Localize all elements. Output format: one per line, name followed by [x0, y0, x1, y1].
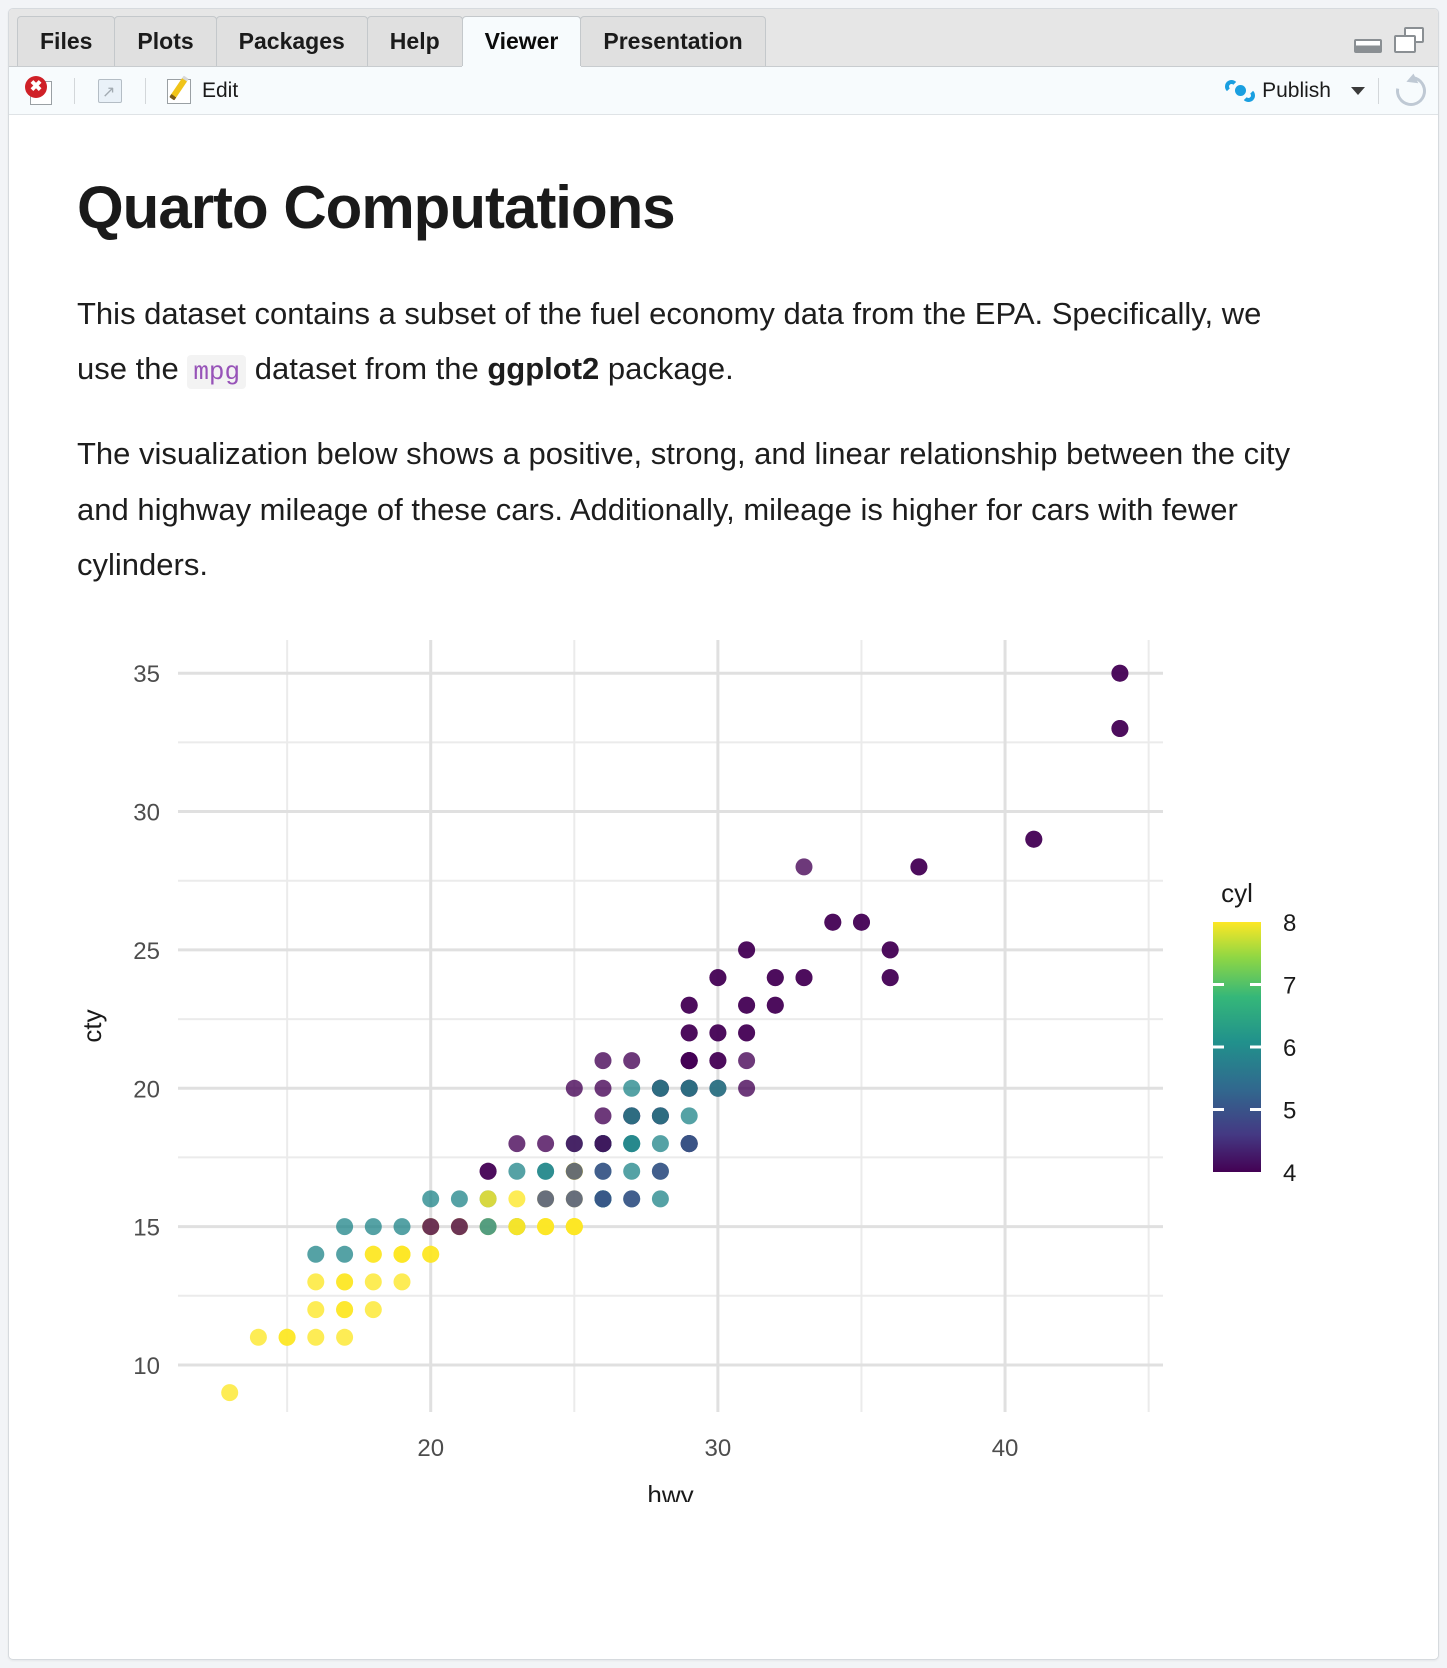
clear-viewer-icon: ✖ — [25, 76, 55, 106]
data-point — [853, 914, 870, 931]
data-point — [566, 1190, 583, 1207]
legend-tick-label: 7 — [1283, 972, 1296, 999]
data-point — [508, 1218, 525, 1235]
data-point — [767, 969, 784, 986]
data-point — [336, 1246, 353, 1263]
data-point — [336, 1301, 353, 1318]
data-point — [480, 1163, 497, 1180]
data-point — [738, 1052, 755, 1069]
data-point — [365, 1273, 382, 1290]
data-point — [709, 1080, 726, 1097]
data-point — [1025, 831, 1042, 848]
x-axis-title: hwy — [647, 1480, 693, 1502]
data-point — [307, 1273, 324, 1290]
data-point — [681, 1135, 698, 1152]
data-point — [623, 1135, 640, 1152]
data-point — [508, 1163, 525, 1180]
data-point — [537, 1218, 554, 1235]
y-axis-title: cty — [77, 1009, 107, 1042]
data-point — [365, 1301, 382, 1318]
data-point — [652, 1190, 669, 1207]
y-tick-label: 20 — [133, 1076, 160, 1103]
data-point — [566, 1218, 583, 1235]
data-point — [767, 997, 784, 1014]
paragraph-intro: This dataset contains a subset of the fu… — [77, 286, 1292, 396]
data-point — [910, 858, 927, 875]
refresh-icon[interactable] — [1390, 70, 1432, 112]
data-point — [709, 1052, 726, 1069]
paragraph-description: The visualization below shows a positive… — [77, 426, 1292, 592]
tab-plots[interactable]: Plots — [114, 16, 216, 66]
data-point — [623, 1163, 640, 1180]
legend-title: cyl — [1221, 878, 1253, 908]
data-point — [422, 1218, 439, 1235]
data-point — [480, 1190, 497, 1207]
x-tick-label: 30 — [705, 1435, 732, 1462]
data-point — [566, 1163, 583, 1180]
data-point — [250, 1329, 267, 1346]
data-point — [681, 997, 698, 1014]
edit-button[interactable]: Edit — [159, 73, 244, 109]
data-point — [595, 1190, 612, 1207]
data-point — [681, 1052, 698, 1069]
tab-label: Plots — [137, 28, 193, 55]
data-point — [796, 969, 813, 986]
data-point — [1111, 720, 1128, 737]
x-tick-label: 40 — [992, 1435, 1019, 1462]
data-point — [738, 1080, 755, 1097]
paragraph-text: dataset from the — [246, 351, 487, 386]
data-point — [1111, 665, 1128, 682]
legend-tick-label: 4 — [1283, 1160, 1296, 1187]
y-tick-label: 35 — [133, 661, 160, 688]
publish-button[interactable]: Publish — [1219, 76, 1337, 106]
data-point — [796, 858, 813, 875]
y-tick-label: 30 — [133, 799, 160, 826]
data-point — [394, 1273, 411, 1290]
data-point — [709, 1024, 726, 1041]
data-point — [595, 1107, 612, 1124]
data-point — [508, 1190, 525, 1207]
scatterplot-figure: 203040101520253035hwycty cyl87654 — [73, 622, 1363, 1502]
data-point — [738, 941, 755, 958]
data-point — [336, 1329, 353, 1346]
edit-label: Edit — [202, 79, 238, 103]
show-in-new-window-icon: ↗ — [94, 77, 126, 105]
legend-tick-label: 6 — [1283, 1035, 1296, 1062]
data-point — [882, 969, 899, 986]
data-point — [365, 1246, 382, 1263]
tab-label: Files — [40, 28, 92, 55]
data-point — [451, 1218, 468, 1235]
viewer-toolbar: ✖ ↗ Edit Publish — [9, 67, 1438, 115]
data-point — [652, 1163, 669, 1180]
scatterplot-svg: 203040101520253035hwycty cyl87654 — [73, 622, 1363, 1502]
data-point — [595, 1135, 612, 1152]
data-point — [307, 1246, 324, 1263]
page-title: Quarto Computations — [77, 173, 1378, 242]
pane-tabbar: Files Plots Packages Help Viewer Present… — [9, 9, 1438, 67]
toolbar-divider — [74, 78, 75, 104]
document-body: Quarto Computations This dataset contain… — [9, 115, 1438, 1658]
data-point — [537, 1190, 554, 1207]
y-tick-label: 15 — [133, 1214, 160, 1241]
data-point — [681, 1107, 698, 1124]
data-point — [394, 1218, 411, 1235]
data-point — [307, 1301, 324, 1318]
tab-label: Packages — [239, 28, 345, 55]
data-point — [394, 1246, 411, 1263]
tab-viewer[interactable]: Viewer — [462, 16, 582, 66]
legend-tick-label: 8 — [1283, 910, 1296, 937]
publish-label: Publish — [1262, 79, 1331, 103]
plot-gridlines — [178, 640, 1163, 1412]
chevron-down-icon[interactable] — [1351, 87, 1365, 95]
data-point — [451, 1190, 468, 1207]
data-point — [882, 941, 899, 958]
toolbar-left-group: ✖ ↗ Edit — [19, 73, 244, 109]
data-point — [336, 1273, 353, 1290]
data-point — [422, 1190, 439, 1207]
minimize-icon[interactable] — [1354, 39, 1382, 53]
data-point — [652, 1135, 669, 1152]
data-point — [537, 1135, 554, 1152]
data-point — [336, 1218, 353, 1235]
show-in-new-window-button[interactable]: ↗ — [88, 74, 132, 108]
data-point — [738, 1024, 755, 1041]
maximize-icon[interactable] — [1394, 27, 1424, 53]
tab-presentation[interactable]: Presentation — [580, 16, 765, 66]
data-point — [709, 969, 726, 986]
data-point — [221, 1384, 238, 1401]
plot-legend: cyl87654 — [1213, 878, 1296, 1187]
toolbar-divider — [1378, 78, 1379, 104]
data-point — [824, 914, 841, 931]
data-point — [623, 1190, 640, 1207]
legend-tick-label: 5 — [1283, 1097, 1296, 1124]
clear-viewer-button[interactable]: ✖ — [19, 73, 61, 109]
data-point — [508, 1135, 525, 1152]
inline-code-mpg: mpg — [187, 355, 246, 389]
data-point — [652, 1080, 669, 1097]
data-point — [738, 997, 755, 1014]
toolbar-right-group: Publish — [1219, 76, 1426, 106]
tab-help[interactable]: Help — [367, 16, 463, 66]
data-point — [623, 1107, 640, 1124]
data-point — [307, 1329, 324, 1346]
tab-label: Presentation — [603, 28, 742, 55]
data-point — [681, 1080, 698, 1097]
data-point — [279, 1329, 296, 1346]
data-point — [480, 1218, 497, 1235]
data-point — [537, 1163, 554, 1180]
data-point — [595, 1163, 612, 1180]
y-tick-label: 25 — [133, 938, 160, 965]
bold-ggplot2: ggplot2 — [487, 351, 599, 386]
paragraph-text: package. — [599, 351, 733, 386]
tab-label: Viewer — [485, 28, 559, 55]
data-point — [652, 1107, 669, 1124]
tab-files[interactable]: Files — [17, 16, 115, 66]
edit-icon — [165, 76, 195, 106]
data-point — [566, 1135, 583, 1152]
data-point — [623, 1052, 640, 1069]
x-tick-label: 20 — [417, 1435, 444, 1462]
publish-icon — [1225, 79, 1255, 103]
data-point — [422, 1246, 439, 1263]
data-point — [566, 1080, 583, 1097]
tab-packages[interactable]: Packages — [216, 16, 368, 66]
tab-label: Help — [390, 28, 440, 55]
data-point — [365, 1218, 382, 1235]
viewer-pane: Files Plots Packages Help Viewer Present… — [8, 8, 1439, 1660]
toolbar-divider — [145, 78, 146, 104]
data-point — [623, 1080, 640, 1097]
data-point — [595, 1080, 612, 1097]
data-point — [681, 1024, 698, 1041]
data-point — [595, 1052, 612, 1069]
y-tick-label: 10 — [133, 1353, 160, 1380]
window-controls — [1354, 27, 1424, 53]
